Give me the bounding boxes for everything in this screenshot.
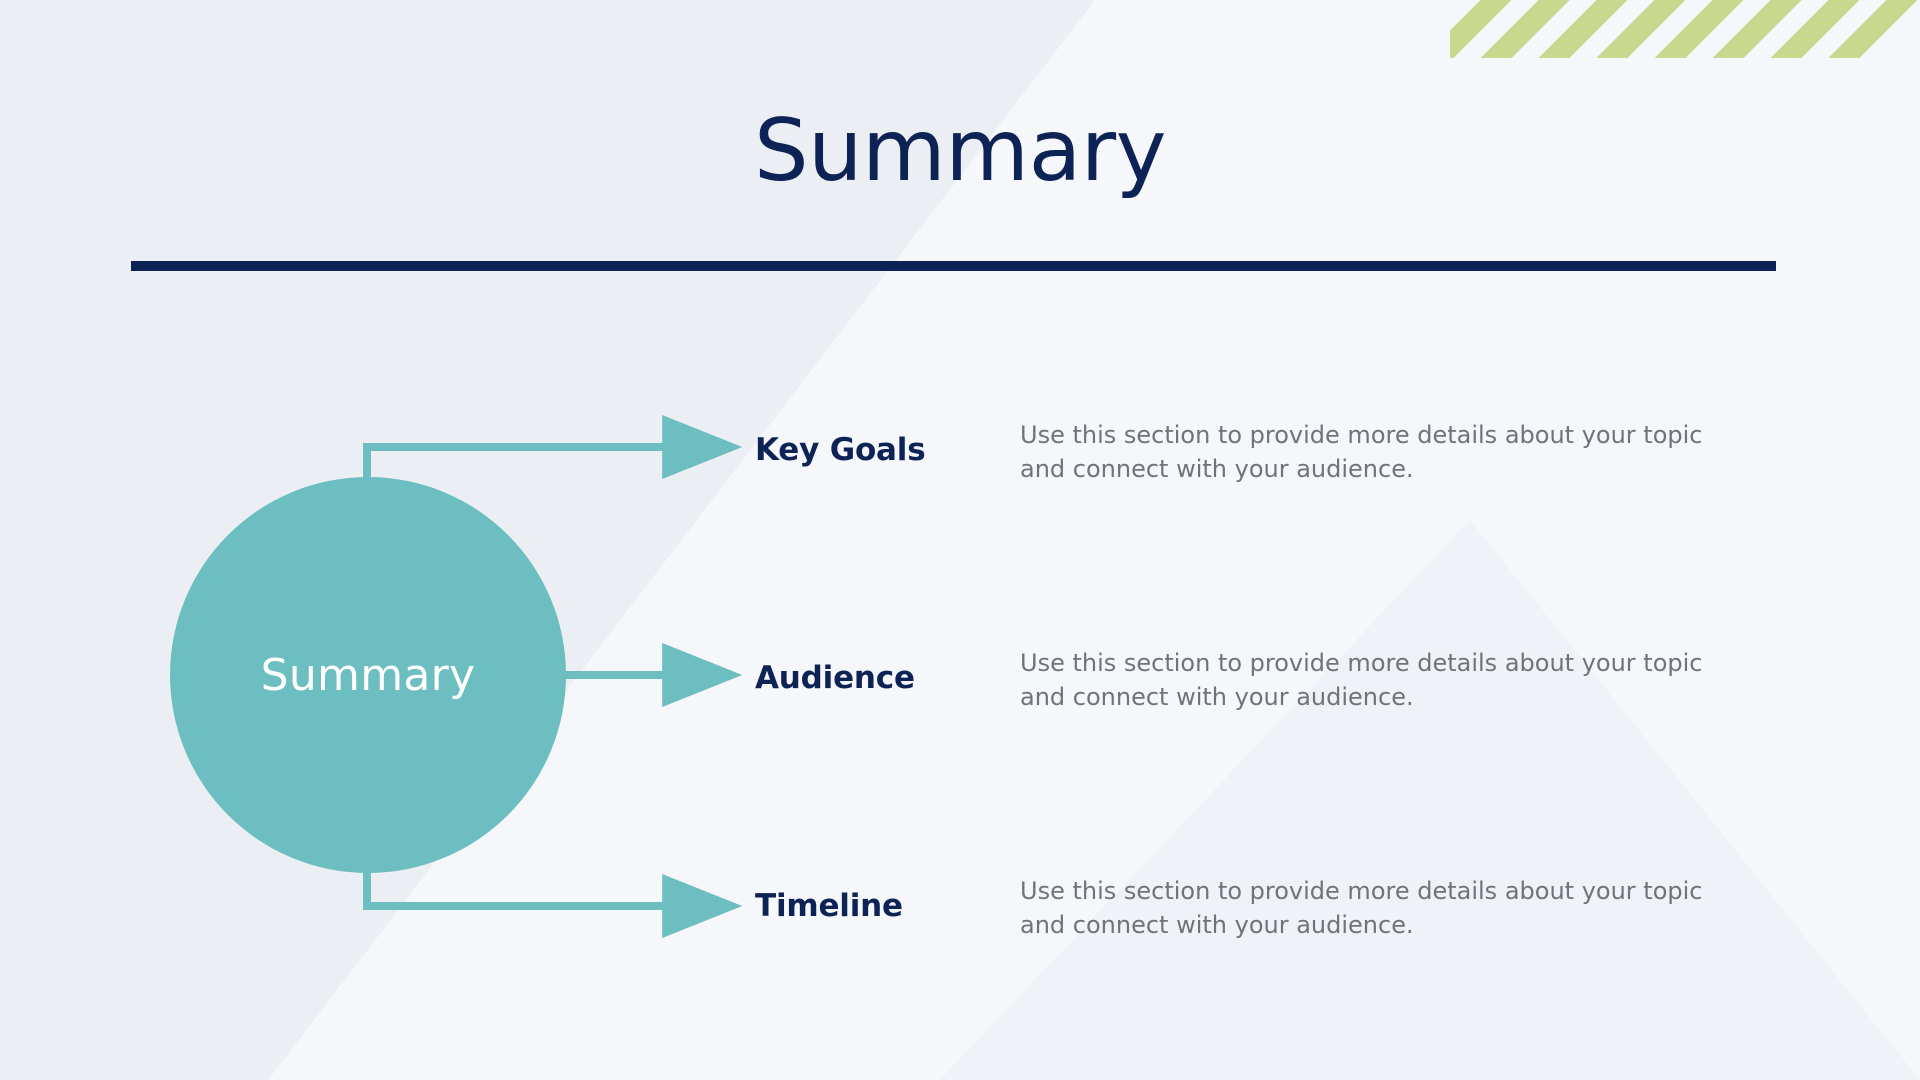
central-hub-label: Summary	[261, 650, 476, 701]
branch-heading: Key Goals	[755, 432, 995, 468]
branch-body-text: Use this section to provide more details…	[1020, 418, 1720, 486]
slide-canvas: Summary Summary Key Goals Use this secti…	[0, 0, 1920, 1080]
branch-heading: Audience	[755, 660, 995, 696]
branch-heading: Timeline	[755, 888, 995, 924]
branch-body-text: Use this section to provide more details…	[1020, 874, 1720, 942]
central-hub-circle: Summary	[170, 477, 566, 873]
branch-body-text: Use this section to provide more details…	[1020, 646, 1720, 714]
